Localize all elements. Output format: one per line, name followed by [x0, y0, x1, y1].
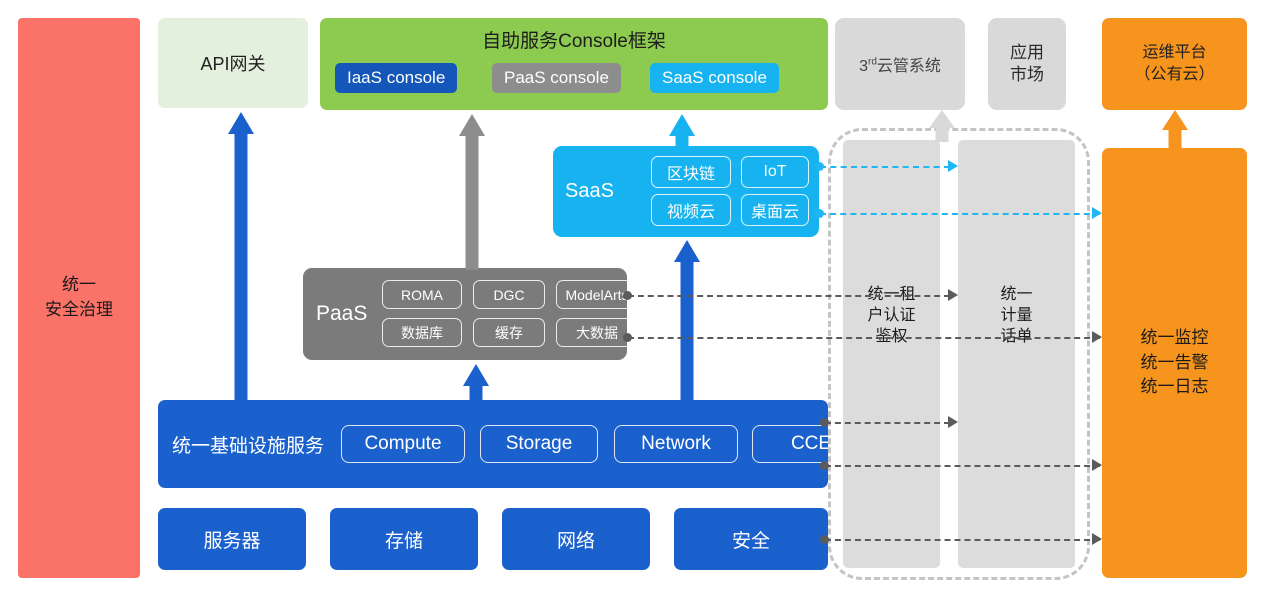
dashed-paas-to-ops: [628, 337, 1100, 339]
paas-layer-label: PaaS: [316, 268, 367, 360]
saas-service-iot: IoT: [741, 156, 809, 188]
app-market-line-2: 市场: [1010, 64, 1044, 86]
hardware-box-network: 网络: [502, 508, 650, 570]
dashed-saas-to-ops: [820, 213, 1100, 215]
hardware-label-security: 安全: [732, 526, 770, 553]
arrowhead-saas-to-auth: [948, 160, 958, 172]
ops-band-line-1: 统一监控: [1141, 326, 1209, 351]
arrow-infra-to-saas: [670, 240, 704, 402]
hardware-box-storage: 存储: [330, 508, 478, 570]
ops-platform-line-1: 运维平台: [1134, 42, 1214, 64]
arrow-infra-to-paas: [459, 364, 493, 404]
paas-service-cache: 缓存: [473, 318, 545, 347]
security-line-2: 安全治理: [45, 298, 113, 323]
paas-service-roma: ROMA: [382, 280, 462, 309]
billing-line-1: 统一: [958, 284, 1075, 305]
chip-iaas-console: IaaS console: [335, 63, 457, 93]
arrowhead-hardware-to-ops: [1092, 533, 1102, 545]
architecture-diagram: 统一 安全治理 API网关 自助服务Console框架 IaaS console…: [0, 0, 1265, 605]
console-framework-box: 自助服务Console框架 IaaS console PaaS console …: [320, 18, 828, 110]
shared-service-column-billing: [958, 140, 1075, 568]
infra-service-storage: Storage: [480, 425, 598, 463]
unified-infrastructure-box: 统一基础设施服务 Compute Storage Network CCE: [158, 400, 828, 488]
dashed-hardware-to-ops: [825, 539, 1100, 541]
infra-service-compute: Compute: [341, 425, 465, 463]
paas-service-database: 数据库: [382, 318, 462, 347]
infrastructure-label: 统一基础设施服务: [172, 400, 324, 488]
dashed-infra-to-ops: [825, 465, 1100, 467]
hardware-box-security: 安全: [674, 508, 828, 570]
unified-ops-band: 统一监控 统一告警 统一日志: [1102, 148, 1247, 578]
ops-platform-public-cloud-box: 运维平台 （公有云）: [1102, 18, 1247, 110]
security-line-1: 统一: [45, 273, 113, 298]
dashed-saas-to-auth: [820, 166, 950, 168]
hardware-label-server: 服务器: [203, 526, 260, 553]
arrowhead-paas-to-auth: [948, 289, 958, 301]
arrow-shared-to-third-cloud: [925, 110, 959, 142]
hardware-label-storage: 存储: [385, 526, 423, 553]
chip-paas-console: PaaS console: [492, 63, 621, 93]
dashed-infra-to-auth: [825, 422, 950, 424]
hardware-box-server: 服务器: [158, 508, 306, 570]
api-gateway-label: API网关: [200, 50, 265, 76]
third-cloud-label: 3rd云管系统: [859, 52, 941, 76]
arrowhead-saas-to-ops: [1092, 207, 1102, 219]
infra-service-network: Network: [614, 425, 738, 463]
saas-layer-label: SaaS: [565, 146, 614, 237]
billing-line-2: 计量: [958, 305, 1075, 326]
paas-service-dgc: DGC: [473, 280, 545, 309]
shared-service-column-auth: [843, 140, 940, 568]
security-governance-panel: 统一 安全治理: [18, 18, 140, 578]
ops-band-line-2: 统一告警: [1141, 351, 1209, 376]
arrowhead-infra-to-auth: [948, 416, 958, 428]
saas-layer-box: SaaS 区块链 IoT 视频云 桌面云: [553, 146, 819, 237]
third-party-cloud-mgmt-box: 3rd云管系统: [835, 18, 965, 110]
paas-layer-box: PaaS ROMA DGC ModelArts 数据库 缓存 大数据: [303, 268, 627, 360]
auth-line-2: 户认证: [843, 305, 940, 326]
saas-service-desktop-cloud: 桌面云: [741, 194, 809, 226]
app-market-box: 应用 市场: [988, 18, 1066, 110]
arrow-paas-to-console: [455, 114, 489, 270]
saas-service-video-cloud: 视频云: [651, 194, 731, 226]
ops-platform-line-2: （公有云）: [1134, 64, 1214, 86]
app-market-line-1: 应用: [1010, 42, 1044, 64]
dashed-paas-to-auth: [628, 295, 950, 297]
api-gateway-box: API网关: [158, 18, 308, 108]
hardware-label-network: 网络: [557, 526, 595, 553]
ops-band-line-3: 统一日志: [1141, 375, 1209, 400]
chip-saas-console: SaaS console: [650, 63, 779, 93]
console-framework-title: 自助服务Console框架: [320, 26, 828, 53]
arrow-infra-to-api-gateway: [224, 112, 258, 400]
arrowhead-infra-to-ops: [1092, 459, 1102, 471]
arrowhead-paas-to-ops: [1092, 331, 1102, 343]
saas-service-blockchain: 区块链: [651, 156, 731, 188]
arrow-saas-to-console: [665, 114, 699, 148]
arrow-ops-band-to-ops-platform: [1158, 110, 1192, 150]
